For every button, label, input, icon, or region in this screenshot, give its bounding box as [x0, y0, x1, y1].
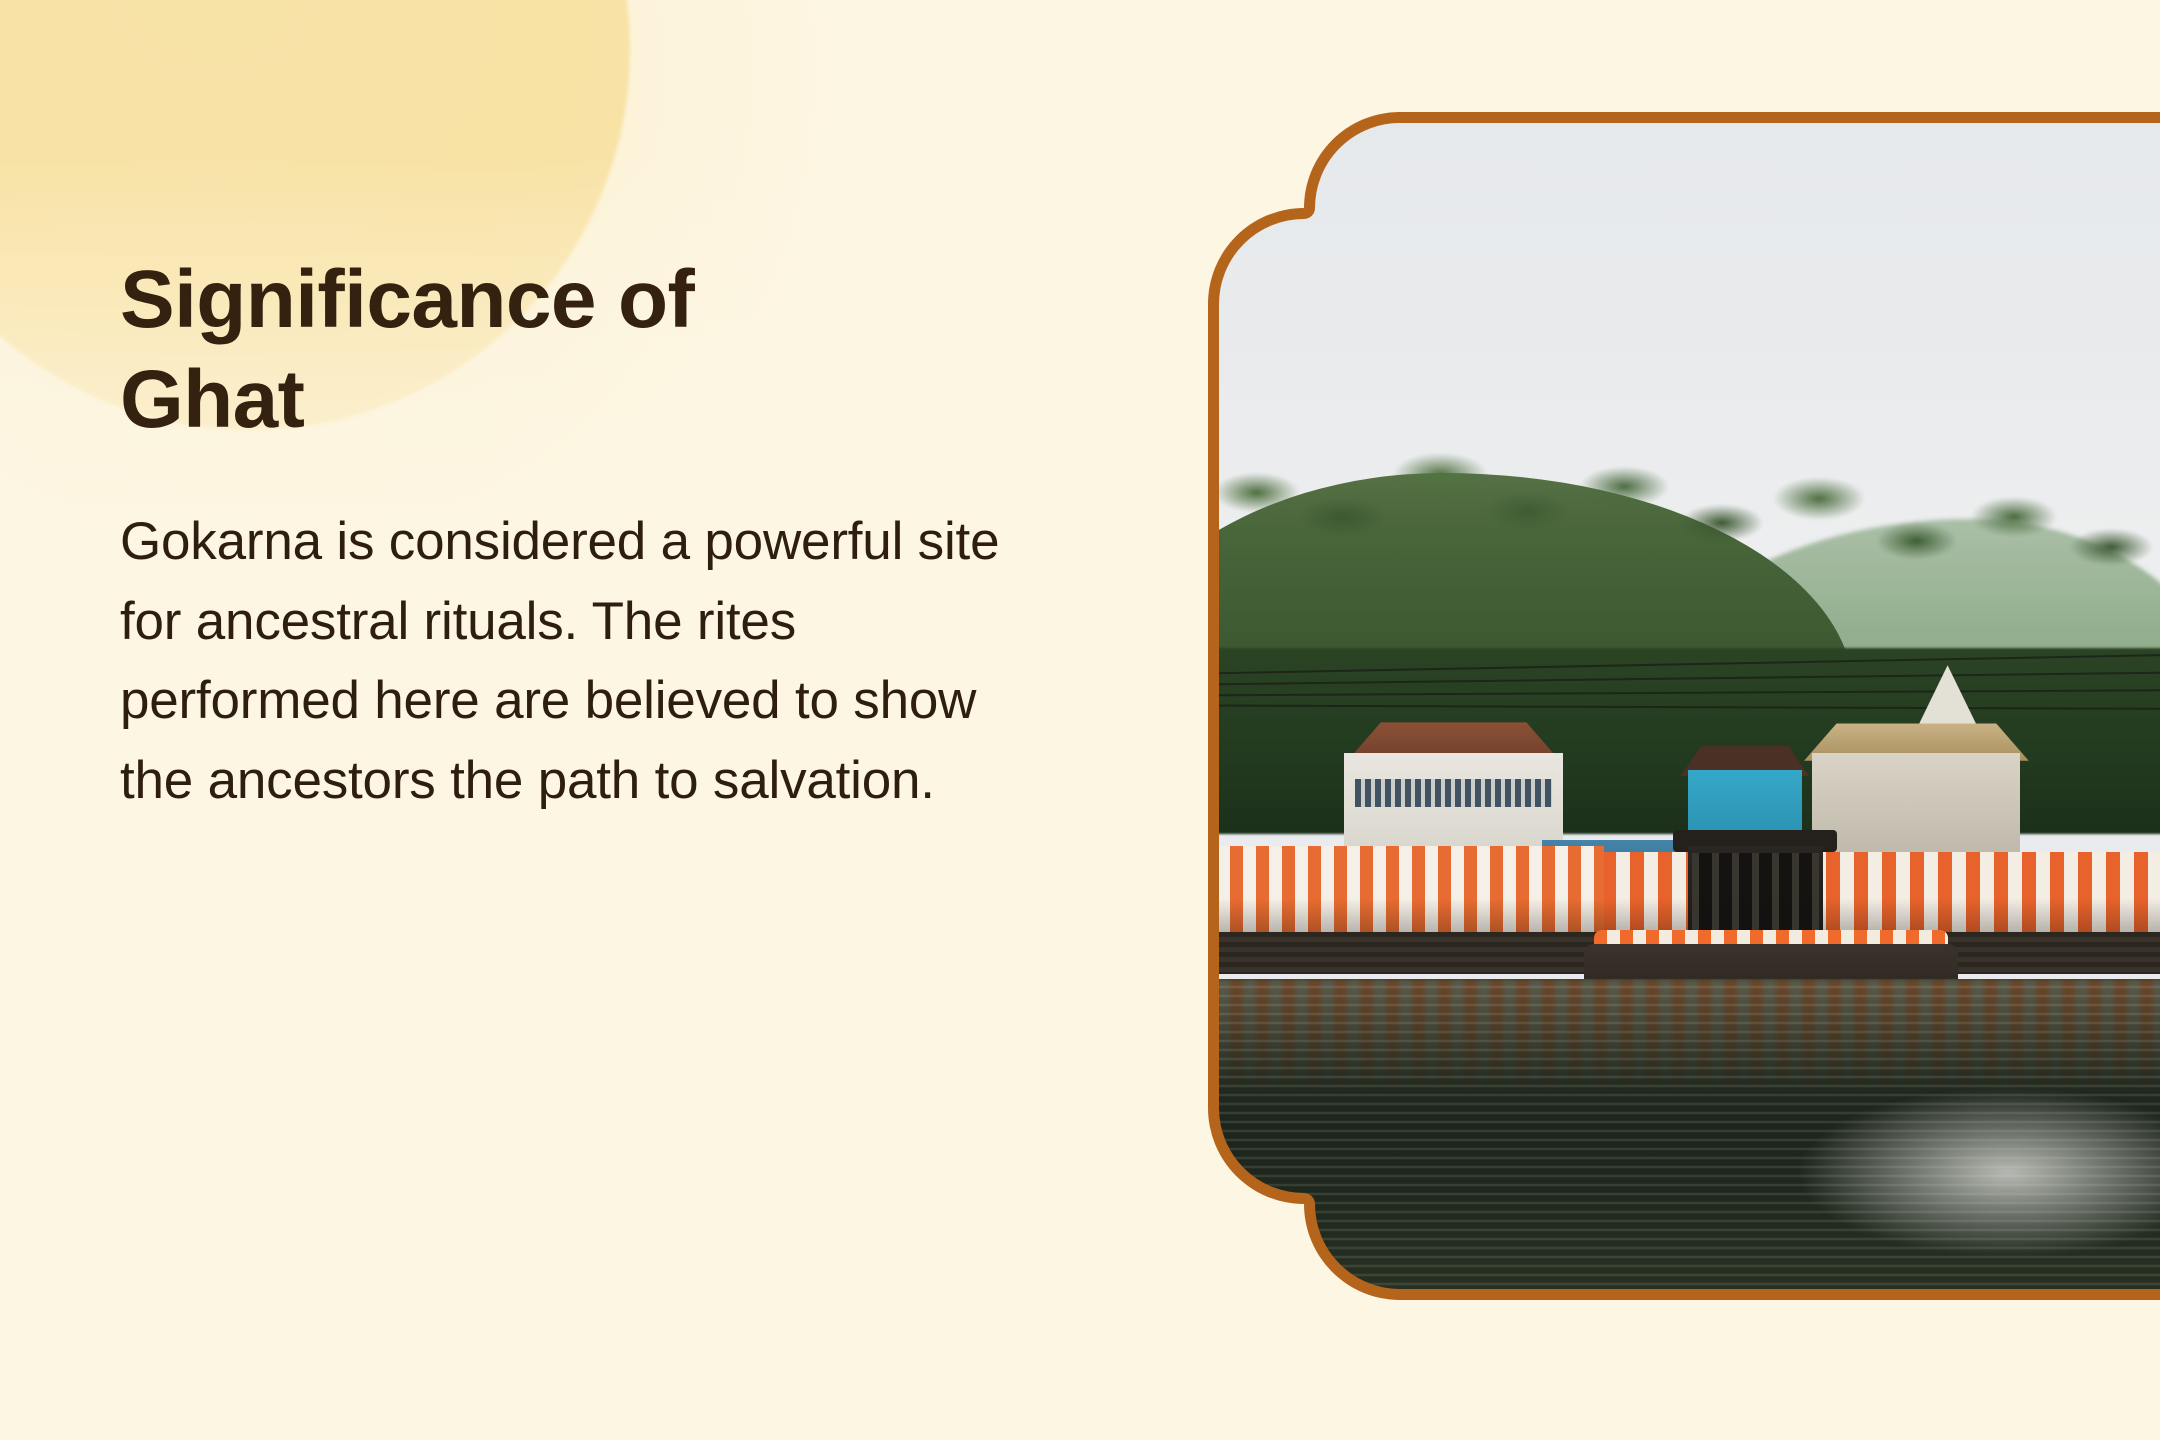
text-column: Significance of Ghat Gokarna is consider… [120, 250, 1020, 820]
page-title: Significance of Ghat [120, 250, 820, 450]
photo-frame-border [1100, 98, 2160, 1314]
body-paragraph: Gokarna is considered a powerful site fo… [120, 502, 1000, 820]
